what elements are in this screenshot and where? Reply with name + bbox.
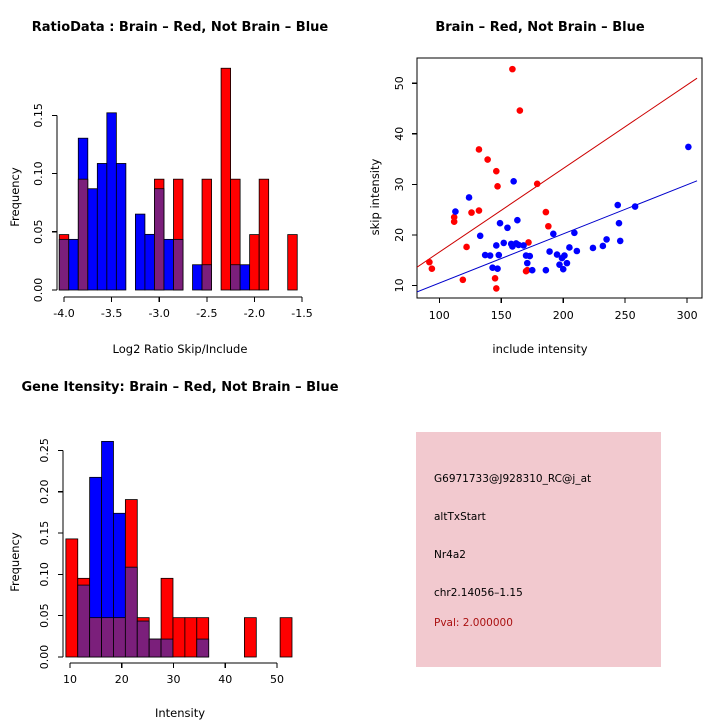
scatter-point bbox=[617, 238, 624, 245]
scatter-point bbox=[603, 236, 610, 243]
x-tick-label: 250 bbox=[615, 309, 636, 322]
scatter-point bbox=[566, 244, 573, 251]
scatter-point bbox=[487, 252, 494, 259]
x-tick-label: 200 bbox=[553, 309, 574, 322]
x-tick-label: 100 bbox=[429, 309, 450, 322]
x-tick-label: 150 bbox=[491, 309, 512, 322]
locus-text: chr2.14056–1.15 bbox=[434, 587, 523, 599]
gene-info-panel: G6971733@J928310_RC@j_at altTxStart Nr4a… bbox=[416, 432, 661, 667]
y-tick-label: 40 bbox=[393, 127, 406, 141]
histogram-bar-overlap bbox=[102, 618, 114, 657]
y-tick-label: 0.00 bbox=[32, 278, 45, 303]
scatter-point bbox=[614, 202, 621, 209]
x-tick-label: -3.5 bbox=[101, 307, 122, 320]
probe-id-text: G6971733@J928310_RC@j_at bbox=[434, 473, 591, 485]
panel-scatter: Brain – Red, Not Brain – Blue skip inten… bbox=[360, 0, 720, 360]
scatter-point bbox=[477, 233, 484, 240]
histogram-bar bbox=[107, 113, 117, 290]
x-tick-label: 20 bbox=[115, 673, 129, 686]
y-tick-label: 0.05 bbox=[32, 220, 45, 245]
scatter-point bbox=[529, 267, 536, 274]
y-tick-label: 0.25 bbox=[38, 438, 51, 463]
histogram-bar bbox=[193, 265, 203, 290]
histogram-bar bbox=[69, 239, 79, 290]
histogram-bar-overlap bbox=[231, 265, 241, 290]
scatter-point bbox=[534, 181, 541, 188]
scatter-point bbox=[543, 267, 550, 274]
y-tick-label: 0.15 bbox=[38, 521, 51, 546]
scatter-point bbox=[517, 107, 524, 114]
y-tick-label: 20 bbox=[393, 228, 406, 242]
scatter-point bbox=[546, 248, 553, 255]
histogram-bar bbox=[66, 539, 78, 657]
histogram-bar-overlap bbox=[78, 585, 90, 657]
histogram-bar bbox=[135, 214, 145, 290]
histogram-bar bbox=[164, 239, 174, 290]
x-tick-label: -3.0 bbox=[148, 307, 169, 320]
x-tick-label: -2.5 bbox=[196, 307, 217, 320]
scatter-point bbox=[493, 242, 500, 249]
histogram-bar bbox=[116, 163, 126, 290]
histogram-bar-overlap bbox=[90, 618, 102, 657]
y-tick-label: 30 bbox=[393, 177, 406, 191]
x-tick-label: -2.0 bbox=[244, 307, 265, 320]
histogram-bar bbox=[145, 234, 155, 290]
histogram-bar bbox=[240, 265, 250, 290]
scatter-point bbox=[476, 146, 483, 153]
y-tick-label: 50 bbox=[393, 76, 406, 90]
x-tick-label: 10 bbox=[63, 673, 77, 686]
scatter-point bbox=[494, 183, 501, 190]
scatter-point bbox=[451, 218, 458, 225]
histogram-bar bbox=[250, 235, 260, 290]
scatter-point bbox=[468, 209, 475, 216]
scatter-point bbox=[524, 260, 531, 267]
scatter-point bbox=[500, 240, 507, 247]
histogram-bar bbox=[244, 618, 256, 657]
scatter-point bbox=[426, 259, 433, 266]
gene-histogram-plot: 0.000.050.100.150.200.251020304050 bbox=[0, 360, 360, 720]
event-type-text: altTxStart bbox=[434, 511, 486, 523]
histogram-bar bbox=[221, 68, 231, 290]
scatter-point bbox=[497, 220, 504, 227]
scatter-point bbox=[550, 231, 557, 238]
scatter-point bbox=[632, 203, 639, 210]
x-tick-label: 40 bbox=[218, 673, 232, 686]
scatter-point bbox=[492, 275, 499, 282]
histogram-bar-overlap bbox=[59, 239, 69, 290]
histogram-bar-overlap bbox=[113, 618, 125, 657]
plot-area bbox=[417, 66, 697, 292]
figure-canvas: RatioData : Brain – Red, Not Brain – Blu… bbox=[0, 0, 720, 720]
scatter-point bbox=[590, 245, 597, 252]
scatter-point bbox=[600, 243, 607, 250]
regression-line bbox=[417, 78, 697, 267]
x-tick-label: 50 bbox=[270, 673, 284, 686]
scatter-point bbox=[564, 260, 571, 267]
scatter-point bbox=[504, 224, 511, 231]
scatter-point bbox=[466, 194, 473, 201]
x-tick-label: -4.0 bbox=[53, 307, 74, 320]
scatter-point bbox=[560, 266, 567, 273]
pval-text: Pval: 2.000000 bbox=[434, 617, 513, 629]
scatter-point bbox=[484, 156, 491, 163]
scatter-point bbox=[616, 220, 623, 227]
y-tick-label: 0.10 bbox=[38, 562, 51, 587]
scatter-point bbox=[460, 277, 467, 284]
scatter-point bbox=[510, 178, 517, 185]
scatter-point bbox=[685, 144, 692, 151]
y-tick-label: 0.05 bbox=[38, 603, 51, 628]
panel-gene-histogram: Gene Itensity: Brain – Red, Not Brain – … bbox=[0, 360, 360, 720]
x-tick-label: 300 bbox=[677, 309, 698, 322]
scatter-point bbox=[509, 66, 516, 73]
histogram-bar-overlap bbox=[154, 189, 164, 290]
histogram-bar bbox=[288, 235, 298, 290]
histogram-bar-overlap bbox=[125, 567, 137, 657]
x-tick-label: -1.5 bbox=[291, 307, 312, 320]
scatter-point bbox=[571, 230, 578, 237]
scatter-point bbox=[494, 265, 501, 272]
histogram-bar bbox=[259, 179, 269, 290]
scatter-point bbox=[520, 242, 527, 249]
histogram-bar-overlap bbox=[78, 179, 88, 290]
y-tick-label: 0.15 bbox=[32, 103, 45, 128]
histogram-bar-overlap bbox=[173, 239, 183, 290]
scatter-plot: 1020304050100150200250300 bbox=[360, 0, 720, 360]
panel-ratio-histogram: RatioData : Brain – Red, Not Brain – Blu… bbox=[0, 0, 360, 360]
scatter-point bbox=[561, 252, 568, 259]
scatter-point bbox=[526, 253, 533, 260]
histogram-bar bbox=[173, 618, 185, 657]
scatter-point bbox=[545, 223, 552, 230]
scatter-point bbox=[493, 168, 500, 175]
x-tick-label: 30 bbox=[167, 673, 181, 686]
histogram-bar-overlap bbox=[202, 265, 212, 290]
y-tick-label: 0.00 bbox=[38, 645, 51, 670]
scatter-point bbox=[495, 252, 502, 259]
histogram-bar-overlap bbox=[197, 639, 209, 657]
histogram-bar-overlap bbox=[137, 621, 149, 657]
scatter-point bbox=[543, 209, 550, 216]
histogram-bar-overlap bbox=[149, 639, 161, 657]
scatter-point bbox=[476, 207, 483, 214]
scatter-point bbox=[514, 217, 521, 224]
histogram-bar bbox=[185, 618, 197, 657]
histogram-bar bbox=[88, 189, 98, 290]
scatter-point bbox=[463, 244, 470, 251]
y-tick-label: 0.10 bbox=[32, 161, 45, 186]
regression-line bbox=[417, 181, 697, 292]
histogram-bar-overlap bbox=[161, 639, 173, 657]
histogram-bar bbox=[280, 618, 292, 657]
ratio-histogram-plot: 0.000.050.100.15-4.0-3.5-3.0-2.5-2.0-1.5 bbox=[0, 0, 360, 360]
scatter-point bbox=[429, 265, 436, 272]
y-tick-label: 10 bbox=[393, 278, 406, 292]
scatter-point bbox=[574, 248, 581, 255]
scatter-point bbox=[493, 285, 500, 292]
y-tick-label: 0.20 bbox=[38, 479, 51, 504]
gene-symbol-text: Nr4a2 bbox=[434, 549, 466, 561]
histogram-bar bbox=[97, 163, 107, 290]
scatter-point bbox=[452, 208, 459, 215]
